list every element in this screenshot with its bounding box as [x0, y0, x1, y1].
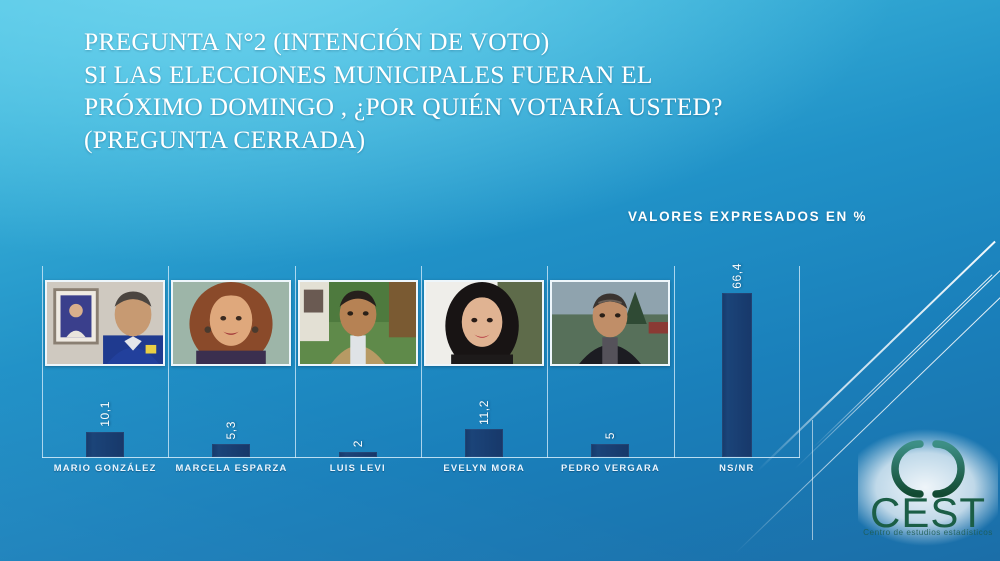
category-label: LUIS LEVI	[330, 462, 386, 473]
decorative-frame-line	[812, 420, 813, 540]
logo-tagline: Centro de estudios estadísticos	[844, 528, 1000, 537]
chart-category: 5PEDRO VERGARA	[547, 266, 673, 458]
category-label: NS/NR	[719, 462, 754, 473]
candidate-photo	[298, 280, 418, 366]
bar-value-label: 66,4	[730, 263, 744, 289]
candidate-photo	[550, 280, 670, 366]
category-divider	[799, 266, 800, 458]
candidate-photo	[171, 280, 291, 366]
chart-bar	[465, 429, 503, 457]
chart-bar	[212, 444, 250, 457]
slide-canvas: PREGUNTA N°2 (INTENCIÓN DE VOTO) SI LAS …	[0, 0, 1000, 561]
category-label: EVELYN MORA	[443, 462, 525, 473]
decorative-diagonal-line	[812, 274, 993, 449]
bar-value-label: 5,3	[224, 421, 238, 439]
chart-bar	[591, 444, 629, 456]
chart-category: 10,1MARIO GONZÁLEZ	[42, 266, 168, 458]
chart-bar	[339, 452, 377, 457]
chart-bar	[86, 432, 124, 457]
plot-area: 10,1MARIO GONZÁLEZ 5,3MARCELA ESPARZA	[42, 266, 800, 458]
chart-category: 66,4NS/NR	[674, 266, 800, 458]
slide-title: PREGUNTA N°2 (INTENCIÓN DE VOTO) SI LAS …	[84, 26, 874, 156]
chart-units-note: VALORES EXPRESADOS EN %	[628, 209, 867, 224]
category-label: MARCELA ESPARZA	[175, 462, 287, 473]
bar-value-label: 5	[603, 432, 617, 439]
chart-bar	[722, 293, 752, 456]
category-label: PEDRO VERGARA	[561, 462, 660, 473]
bar-value-label: 11,2	[477, 400, 491, 425]
chart-category: 11,2EVELYN MORA	[421, 266, 547, 458]
bar-value-label: 10,1	[98, 401, 112, 427]
chart-category: 5,3MARCELA ESPARZA	[168, 266, 294, 458]
bar-chart: 10,1MARIO GONZÁLEZ 5,3MARCELA ESPARZA	[42, 266, 800, 458]
cest-logo: CEST Centro de estudios estadísticos	[858, 428, 998, 552]
category-label: MARIO GONZÁLEZ	[54, 462, 157, 473]
chart-category: 2LUIS LEVI	[295, 266, 421, 458]
candidate-photo	[424, 280, 544, 366]
candidate-photo	[45, 280, 165, 366]
bar-value-label: 2	[351, 440, 365, 447]
